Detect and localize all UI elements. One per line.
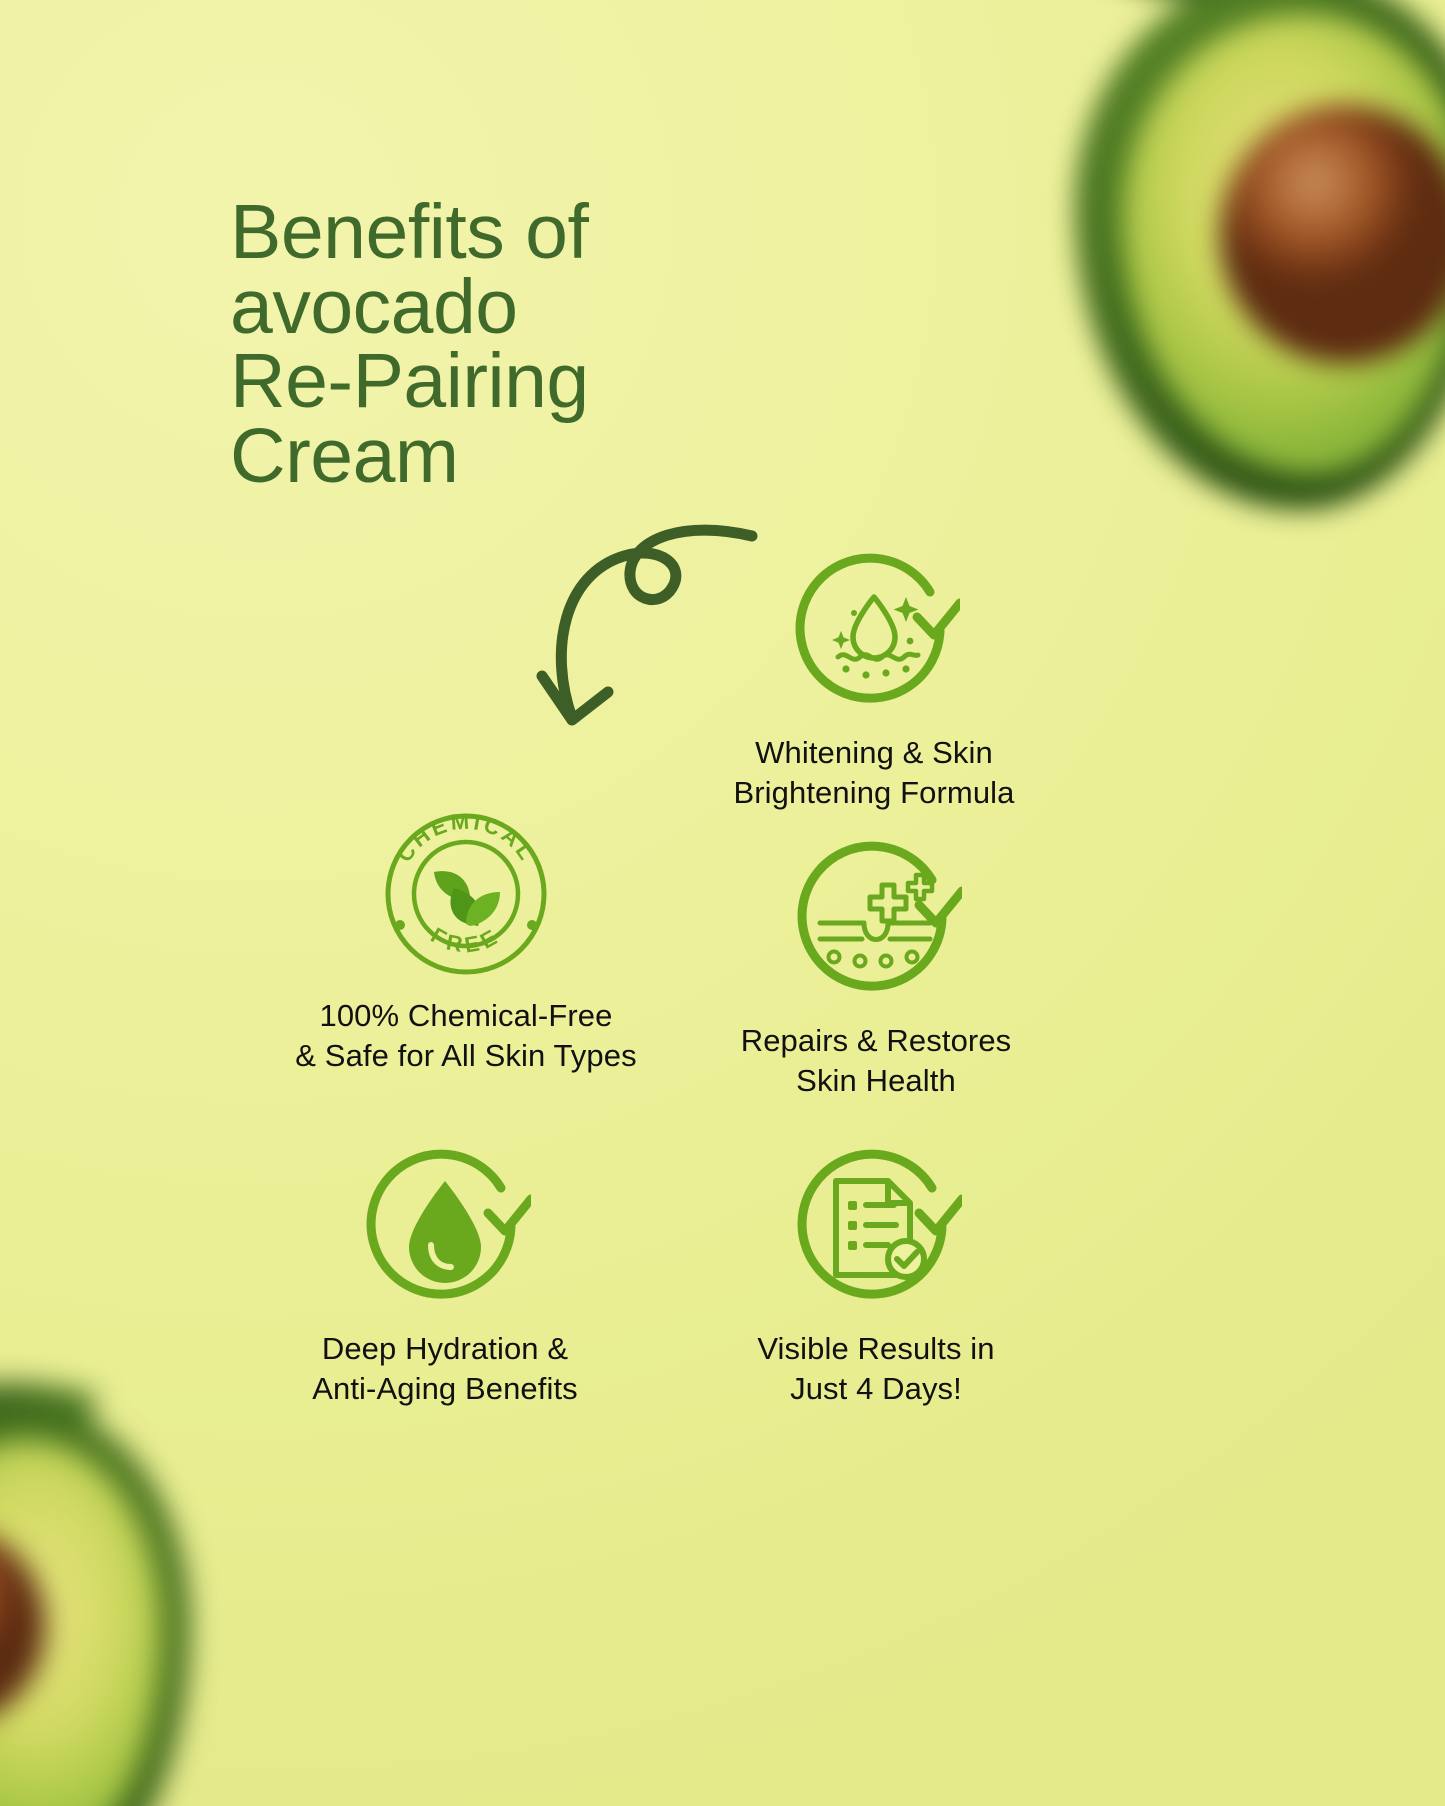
benefit-caption: Repairs & Restores Skin Health <box>741 1021 1012 1102</box>
checklist-document-circle-icon <box>790 1141 962 1313</box>
benefits-grid: Whitening & Skin Brightening Formula CHE… <box>0 0 1445 1806</box>
benefit-item-hydration: Deep Hydration & Anti-Aging Benefits <box>275 1141 615 1410</box>
poster-canvas: Benefits of avocado Re-Pairing Cream <box>0 0 1445 1806</box>
svg-text:CHEMICAL: CHEMICAL <box>392 809 541 867</box>
benefit-item-chemical-free: CHEMICAL FREE 100% Chemical-Free & Safe … <box>266 808 666 1077</box>
badge-bottom-text: FREE <box>427 922 506 957</box>
benefit-item-repairs: Repairs & Restores Skin Health <box>716 833 1036 1102</box>
water-drop-sparkle-circle-icon <box>788 545 960 717</box>
benefit-caption: Deep Hydration & Anti-Aging Benefits <box>312 1329 578 1410</box>
benefit-item-whitening: Whitening & Skin Brightening Formula <box>714 545 1034 814</box>
badge-top-text: CHEMICAL <box>392 809 541 867</box>
skin-repair-circle-icon <box>790 833 962 1005</box>
chemical-free-badge-icon: CHEMICAL FREE <box>380 808 552 980</box>
svg-text:FREE: FREE <box>427 922 506 957</box>
benefit-caption: Whitening & Skin Brightening Formula <box>733 733 1014 814</box>
benefit-item-visible-results: Visible Results in Just 4 Days! <box>716 1141 1036 1410</box>
water-drop-circle-icon <box>359 1141 531 1313</box>
benefit-caption: Visible Results in Just 4 Days! <box>757 1329 994 1410</box>
benefit-caption: 100% Chemical-Free & Safe for All Skin T… <box>295 996 636 1077</box>
